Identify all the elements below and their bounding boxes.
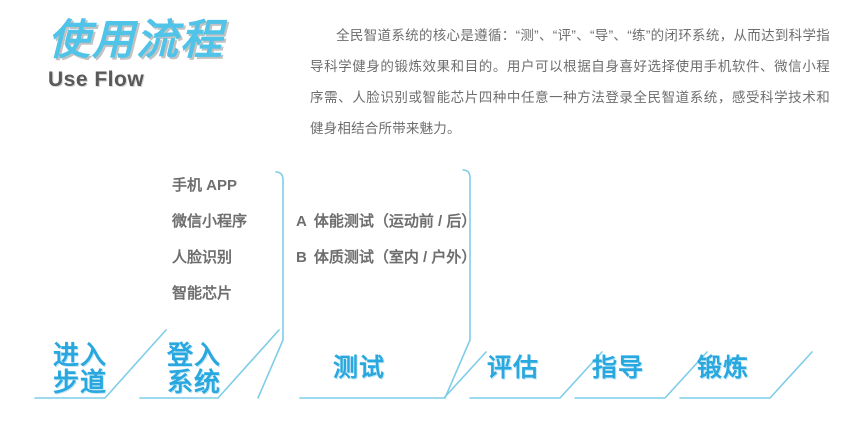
step-label-2-line1: 登入 [158,342,230,369]
step-label-5-line1: 指导 [583,355,653,382]
step-label-3-line1: 测试 [324,355,394,382]
step-label-6-line1: 锻炼 [688,355,758,382]
divider-left [258,172,283,398]
step-label-3[interactable]: 测试 [324,355,394,382]
step-label-4[interactable]: 评估 [478,355,548,382]
step-label-1-line1: 进入 [44,342,116,369]
step-label-2-line2: 系统 [158,369,230,396]
step-label-1-line2: 步道 [44,369,116,396]
step-label-4-line1: 评估 [478,355,548,382]
step-label-1[interactable]: 进入 步道 [44,342,116,396]
step-label-2[interactable]: 登入 系统 [158,342,230,396]
use-flow-infographic: 使用流程 Use Flow 全民智道系统的核心是遵循：“测”、“评”、“导”、“… [0,0,851,442]
divider-right [445,170,470,398]
step-label-6[interactable]: 锻炼 [688,355,758,382]
step-label-5[interactable]: 指导 [583,355,653,382]
